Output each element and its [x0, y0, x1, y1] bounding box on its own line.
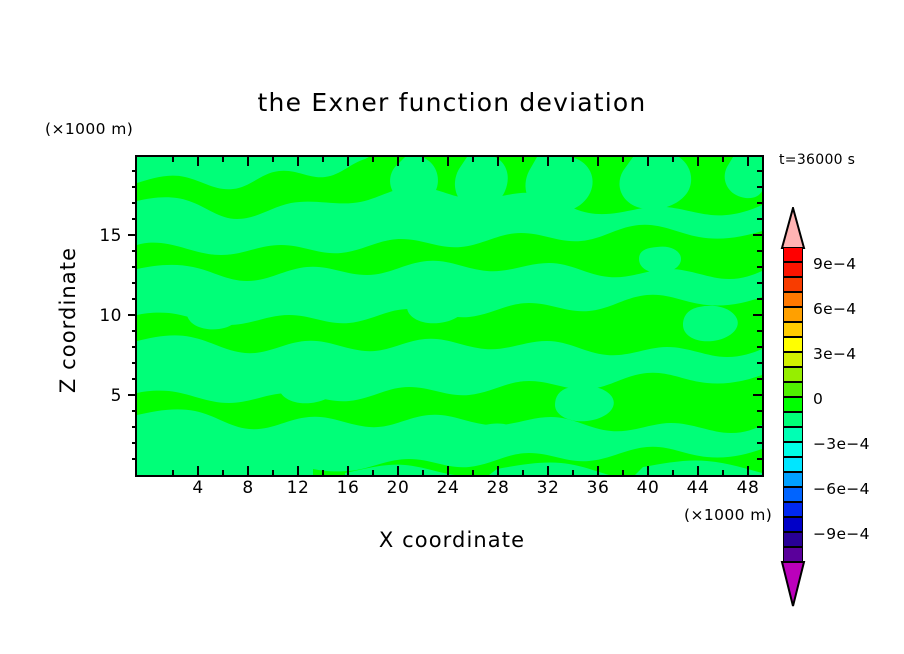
- y-tick-minor: [132, 330, 137, 332]
- x-tick-minor-top: [722, 157, 724, 162]
- colorbar-tick-label: −9e−4: [813, 525, 870, 543]
- colorbar-band: [783, 322, 803, 337]
- colorbar-band: [783, 472, 803, 487]
- colorbar-over-arrow: [779, 207, 809, 249]
- timestamp-label: t=36000 s: [779, 152, 855, 168]
- x-tick-minor-top: [622, 157, 624, 162]
- y-tick-major: [128, 234, 137, 236]
- y-tick-minor-right: [757, 410, 762, 412]
- x-tick-label: 12: [276, 478, 320, 498]
- x-tick-major-top: [297, 157, 299, 166]
- colorbar-band: [783, 382, 803, 397]
- y-tick-minor: [132, 362, 137, 364]
- y-tick-minor-right: [757, 362, 762, 364]
- x-tick-label: 16: [326, 478, 370, 498]
- y-tick-minor-right: [757, 170, 762, 172]
- x-tick-major-top: [697, 157, 699, 166]
- y-tick-major: [128, 314, 137, 316]
- y-tick-minor: [132, 426, 137, 428]
- y-tick-minor: [132, 170, 137, 172]
- y-tick-minor: [132, 250, 137, 252]
- x-tick-minor: [172, 470, 174, 475]
- contour-field: [137, 157, 762, 475]
- x-tick-major: [697, 466, 699, 475]
- y-axis-units-label: (×1000 m): [45, 120, 133, 138]
- colorbar-tick-label: 3e−4: [813, 345, 856, 363]
- x-tick-minor: [672, 470, 674, 475]
- x-tick-major: [297, 466, 299, 475]
- x-tick-minor: [372, 470, 374, 475]
- colorbar-band: [783, 517, 803, 532]
- y-tick-minor-right: [757, 266, 762, 268]
- x-tick-major: [397, 466, 399, 475]
- x-tick-major-top: [197, 157, 199, 166]
- x-tick-major: [347, 466, 349, 475]
- colorbar: 9e−4 6e−4 3e−4 0 −3e−4 −6e−4 −9e−4: [779, 207, 901, 517]
- x-tick-label: 8: [226, 478, 270, 498]
- y-tick-minor-right: [757, 218, 762, 220]
- colorbar-band: [783, 352, 803, 367]
- x-tick-major: [597, 466, 599, 475]
- x-tick-major-top: [397, 157, 399, 166]
- x-tick-minor: [472, 470, 474, 475]
- x-tick-minor-top: [672, 157, 674, 162]
- colorbar-tick-label: 0: [813, 390, 823, 408]
- contour-plot-area: [135, 155, 764, 477]
- x-tick-major-top: [747, 157, 749, 166]
- colorbar-tick-label: −6e−4: [813, 480, 870, 498]
- y-tick-minor-right: [757, 186, 762, 188]
- y-axis-title: Z coordinate: [56, 190, 80, 450]
- colorbar-tick-label: 6e−4: [813, 300, 856, 318]
- colorbar-band: [783, 277, 803, 292]
- x-axis-title: X coordinate: [0, 528, 904, 552]
- colorbar-under-arrow: [779, 561, 809, 607]
- colorbar-band: [783, 292, 803, 307]
- x-tick-minor-top: [172, 157, 174, 162]
- x-tick-label: 48: [726, 478, 770, 498]
- x-tick-minor: [622, 470, 624, 475]
- y-tick-minor: [132, 410, 137, 412]
- colorbar-band: [783, 457, 803, 472]
- y-tick-minor: [132, 298, 137, 300]
- x-tick-minor: [572, 470, 574, 475]
- colorbar-band: [783, 547, 803, 562]
- y-tick-major-right: [753, 394, 762, 396]
- x-tick-major-top: [647, 157, 649, 166]
- y-tick-minor-right: [757, 442, 762, 444]
- x-tick-major: [197, 466, 199, 475]
- y-tick-label: 10: [82, 306, 122, 326]
- y-tick-minor: [132, 282, 137, 284]
- chart-title: the Exner function deviation: [0, 88, 904, 117]
- colorbar-band: [783, 502, 803, 517]
- colorbar-band: [783, 337, 803, 352]
- y-tick-minor-right: [757, 202, 762, 204]
- y-tick-minor: [132, 346, 137, 348]
- x-tick-minor: [322, 470, 324, 475]
- x-tick-major-top: [247, 157, 249, 166]
- y-tick-label: 5: [82, 386, 122, 406]
- x-tick-minor: [722, 470, 724, 475]
- y-tick-minor: [132, 378, 137, 380]
- x-tick-major-top: [597, 157, 599, 166]
- x-tick-minor-top: [522, 157, 524, 162]
- y-tick-major-right: [753, 234, 762, 236]
- colorbar-band: [783, 487, 803, 502]
- x-tick-minor-top: [222, 157, 224, 162]
- colorbar-band: [783, 412, 803, 427]
- x-tick-major: [647, 466, 649, 475]
- x-axis-units-label: (×1000 m): [684, 506, 772, 524]
- colorbar-band: [783, 262, 803, 277]
- y-tick-minor-right: [757, 250, 762, 252]
- x-tick-minor-top: [372, 157, 374, 162]
- y-tick-minor-right: [757, 330, 762, 332]
- x-tick-label: 24: [426, 478, 470, 498]
- y-tick-minor-right: [757, 458, 762, 460]
- x-tick-label: 28: [476, 478, 520, 498]
- y-tick-minor-right: [757, 298, 762, 300]
- x-tick-major: [747, 466, 749, 475]
- x-tick-label: 4: [176, 478, 220, 498]
- y-tick-minor-right: [757, 346, 762, 348]
- x-tick-major-top: [547, 157, 549, 166]
- x-tick-label: 32: [526, 478, 570, 498]
- y-tick-minor: [132, 202, 137, 204]
- x-tick-label: 20: [376, 478, 420, 498]
- colorbar-tick-label: −3e−4: [813, 435, 870, 453]
- x-tick-label: 40: [626, 478, 670, 498]
- y-tick-minor-right: [757, 426, 762, 428]
- x-tick-label: 44: [676, 478, 720, 498]
- figure-canvas: the Exner function deviation (×1000 m) t…: [0, 0, 904, 654]
- x-tick-minor: [222, 470, 224, 475]
- colorbar-band: [783, 307, 803, 322]
- colorbar-band: [783, 442, 803, 457]
- colorbar-band: [783, 532, 803, 547]
- y-tick-minor-right: [757, 282, 762, 284]
- colorbar-band: [783, 367, 803, 382]
- colorbar-band: [783, 397, 803, 412]
- colorbar-tick-label: 9e−4: [813, 255, 856, 273]
- x-tick-major: [447, 466, 449, 475]
- x-tick-major: [247, 466, 249, 475]
- y-tick-major-right: [753, 314, 762, 316]
- x-tick-major-top: [497, 157, 499, 166]
- y-tick-minor: [132, 266, 137, 268]
- y-tick-minor: [132, 442, 137, 444]
- y-tick-major: [128, 394, 137, 396]
- x-tick-major-top: [347, 157, 349, 166]
- y-tick-minor: [132, 218, 137, 220]
- x-tick-minor: [522, 470, 524, 475]
- colorbar-band: [783, 427, 803, 442]
- y-tick-minor: [132, 186, 137, 188]
- x-tick-major-top: [447, 157, 449, 166]
- y-tick-minor: [132, 458, 137, 460]
- x-tick-minor-top: [472, 157, 474, 162]
- x-tick-label: 36: [576, 478, 620, 498]
- y-tick-minor-right: [757, 378, 762, 380]
- x-tick-minor-top: [572, 157, 574, 162]
- colorbar-band: [783, 247, 803, 262]
- x-tick-minor-top: [322, 157, 324, 162]
- y-tick-label: 15: [82, 226, 122, 246]
- x-tick-major: [497, 466, 499, 475]
- x-tick-major: [547, 466, 549, 475]
- x-tick-minor: [272, 470, 274, 475]
- x-tick-minor-top: [272, 157, 274, 162]
- x-tick-minor-top: [422, 157, 424, 162]
- x-tick-minor: [422, 470, 424, 475]
